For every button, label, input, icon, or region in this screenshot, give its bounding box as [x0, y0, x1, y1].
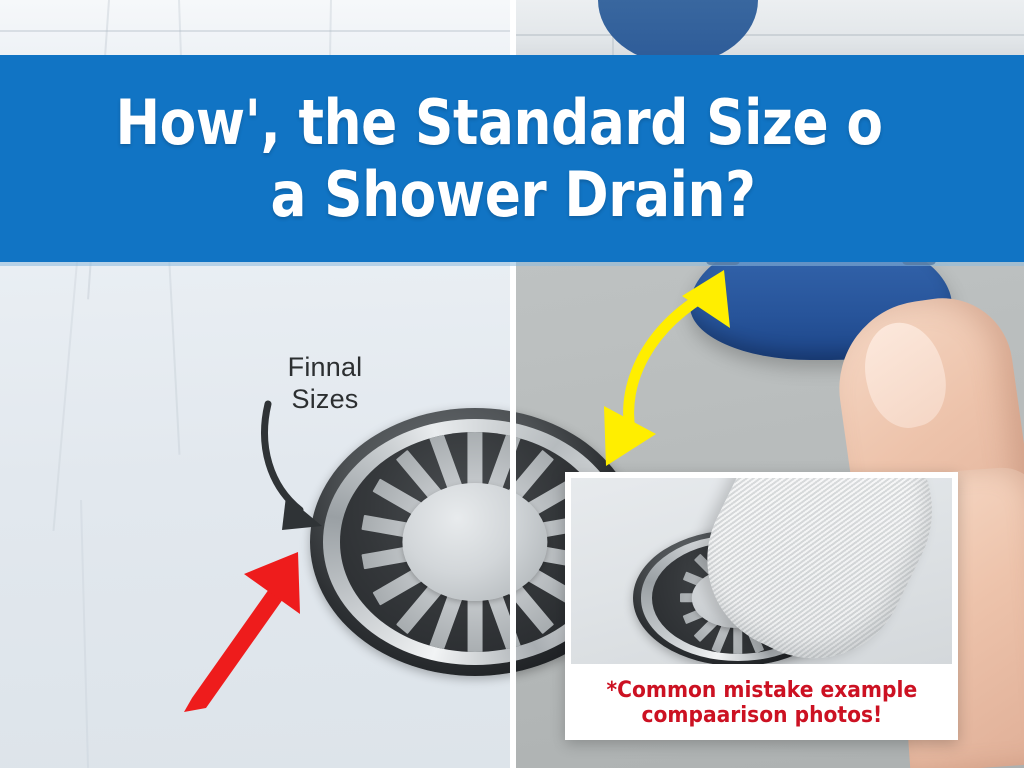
tile-seam: [168, 255, 180, 455]
drain-center-hub: [402, 483, 547, 601]
tile-seam: [80, 500, 89, 768]
title-banner: How', the Standard Size o a Shower Drain…: [0, 55, 1024, 262]
curved-arrow-icon: [248, 398, 368, 548]
yellow-double-arrow-icon: [596, 262, 756, 472]
annotation-line-1: Finnal: [250, 352, 400, 384]
infographic-canvas: Finnal Sizes How', the Standard Size o a…: [0, 0, 1024, 768]
title-line-2: a Shower Drain?: [270, 162, 755, 227]
grout-line-horizontal: [516, 34, 1024, 36]
inset-photo-image: [571, 478, 952, 664]
left-wall-tile: [0, 0, 512, 56]
title-line-1: How', the Standard Size o: [115, 90, 882, 155]
grout-line-horizontal: [0, 30, 512, 32]
red-pointer-arrow-icon: [178, 540, 328, 720]
right-wall-tile: [516, 0, 1024, 62]
inset-caption: *Common mistake example compaarison phot…: [571, 666, 952, 740]
tile-seam: [52, 262, 78, 531]
caption-line-2: compaarison photos!: [641, 703, 882, 728]
inset-photo-card: *Common mistake example compaarison phot…: [565, 472, 958, 740]
caption-line-1: *Common mistake example: [606, 678, 917, 703]
